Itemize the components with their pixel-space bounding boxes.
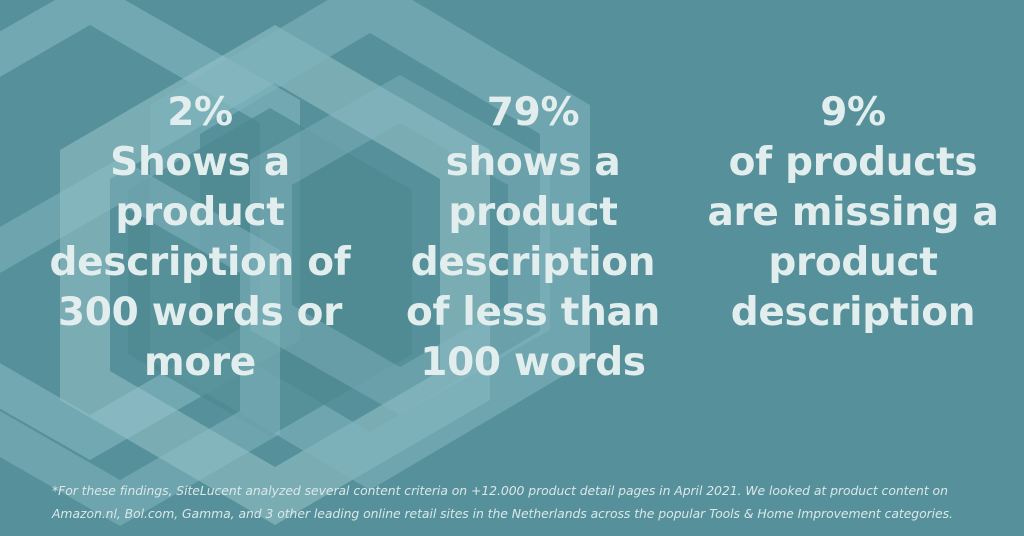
footnote-line-1: *For these findings, SiteLucent analyzed… xyxy=(52,480,952,503)
stat-block-missing-description: 9% of products are missing a product des… xyxy=(698,0,1008,338)
stat-label: of products are missing a product descri… xyxy=(698,138,1008,338)
stat-value: 9% xyxy=(698,88,1008,138)
infographic-poster: 2% Shows a product description of 300 wo… xyxy=(0,0,1024,536)
stat-label: Shows a product description of 300 words… xyxy=(30,138,370,388)
stat-value: 79% xyxy=(388,88,678,138)
stat-value: 2% xyxy=(30,88,370,138)
stat-label: shows a product description of less than… xyxy=(388,138,678,388)
footnote: *For these findings, SiteLucent analyzed… xyxy=(52,480,952,526)
stat-block-less-than-100-words: 79% shows a product description of less … xyxy=(388,0,678,387)
footnote-line-2: Amazon.nl, Bol.com, Gamma, and 3 other l… xyxy=(52,503,952,526)
stat-block-300-words: 2% Shows a product description of 300 wo… xyxy=(30,0,370,387)
stats-row: 2% Shows a product description of 300 wo… xyxy=(0,0,1024,470)
